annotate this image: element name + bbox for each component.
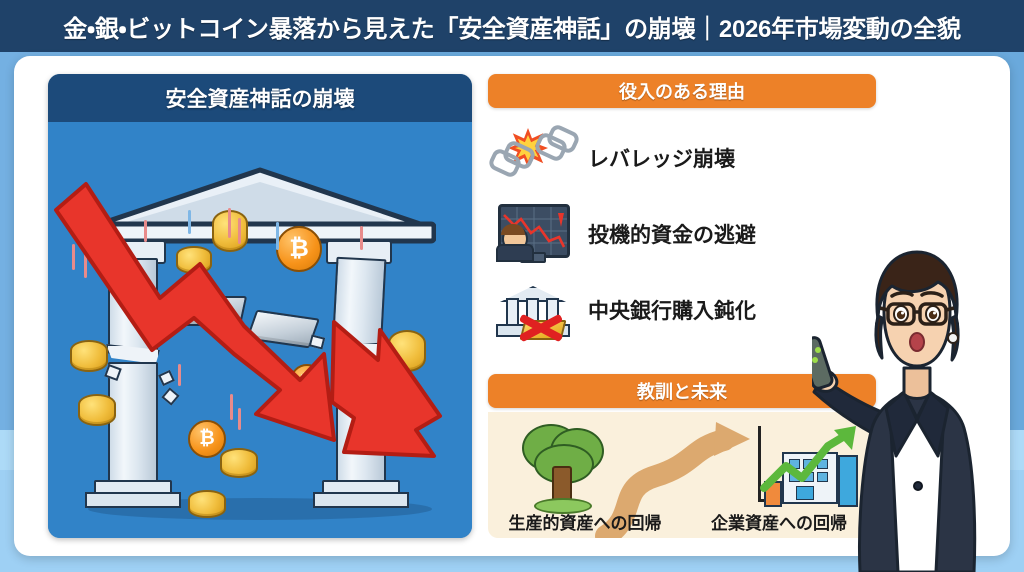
tree-icon (512, 422, 608, 506)
presenter-avatar (812, 242, 1022, 572)
person-body (496, 244, 534, 262)
slide-stage: 金・銀・ビットコイン暴落から見えた「安全資産神話」の崩壊｜2026年市場変動の全… (0, 0, 1024, 572)
central-bank-gold-icon (488, 274, 574, 346)
crash-arrow-group (48, 122, 472, 538)
header-bar: 金・銀・ビットコイン暴落から見えた「安全資産神話」の崩壊｜2026年市場変動の全… (0, 0, 1024, 52)
left-panel-title: 安全資産神話の崩壊 (166, 83, 355, 113)
reasons-header-label: 役入のある理由 (619, 78, 745, 104)
red-zigzag-crash-arrow (56, 184, 334, 440)
temple-collapse-illustration: ₿ ₿ ₿ (48, 122, 472, 538)
page-title: 金・銀・ビットコイン暴落から見えた「安全資産神話」の崩壊｜2026年市場変動の全… (63, 9, 960, 44)
presenter-illustration (812, 242, 1022, 572)
collapse-illustration-panel: 安全資産神話の崩壊 (48, 74, 472, 538)
red-cross-icon (518, 310, 564, 344)
reason-label: レバレッジ崩壊 (588, 143, 735, 173)
lesson-header-label: 教訓と未来 (637, 378, 727, 404)
lesson-left-caption: 生産的資産への回帰 (488, 509, 682, 534)
reason-label: 投機的資金の逃避 (588, 219, 756, 249)
pointer-remote-icon (812, 336, 834, 390)
reasons-header: 役入のある理由 (488, 74, 876, 108)
falling-chart-monitor-icon (488, 198, 574, 270)
reason-label: 中央銀行購入鈍化 (588, 295, 756, 325)
reason-item[interactable]: レバレッジ崩壊 (488, 120, 876, 196)
broken-chain-icon (488, 122, 574, 194)
left-panel-header: 安全資産神話の崩壊 (48, 74, 472, 122)
red-down-arrow (332, 322, 440, 456)
